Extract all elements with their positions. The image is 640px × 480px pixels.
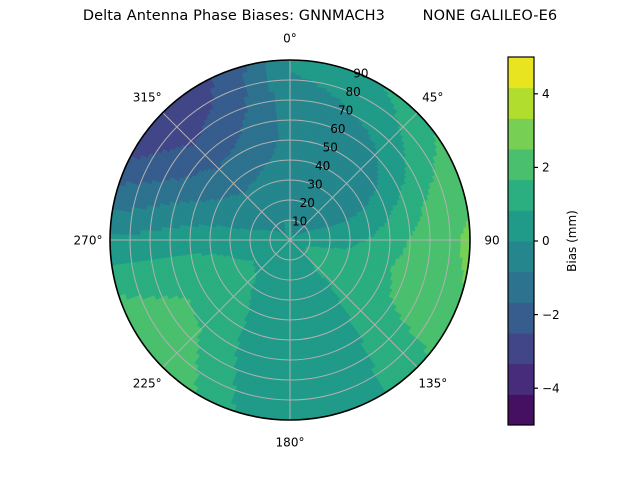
contour-cell <box>371 234 374 237</box>
figure-title: Delta Antenna Phase Biases: GNNMACH3 NON… <box>0 8 640 24</box>
figure-canvas: Delta Antenna Phase Biases: GNNMACH3 NON… <box>0 0 640 480</box>
contour-cell <box>206 243 209 246</box>
polar-contour-plot: 0°45°90135°180°225°270°315° 102030405060… <box>0 0 640 480</box>
contour-cell <box>293 321 296 324</box>
